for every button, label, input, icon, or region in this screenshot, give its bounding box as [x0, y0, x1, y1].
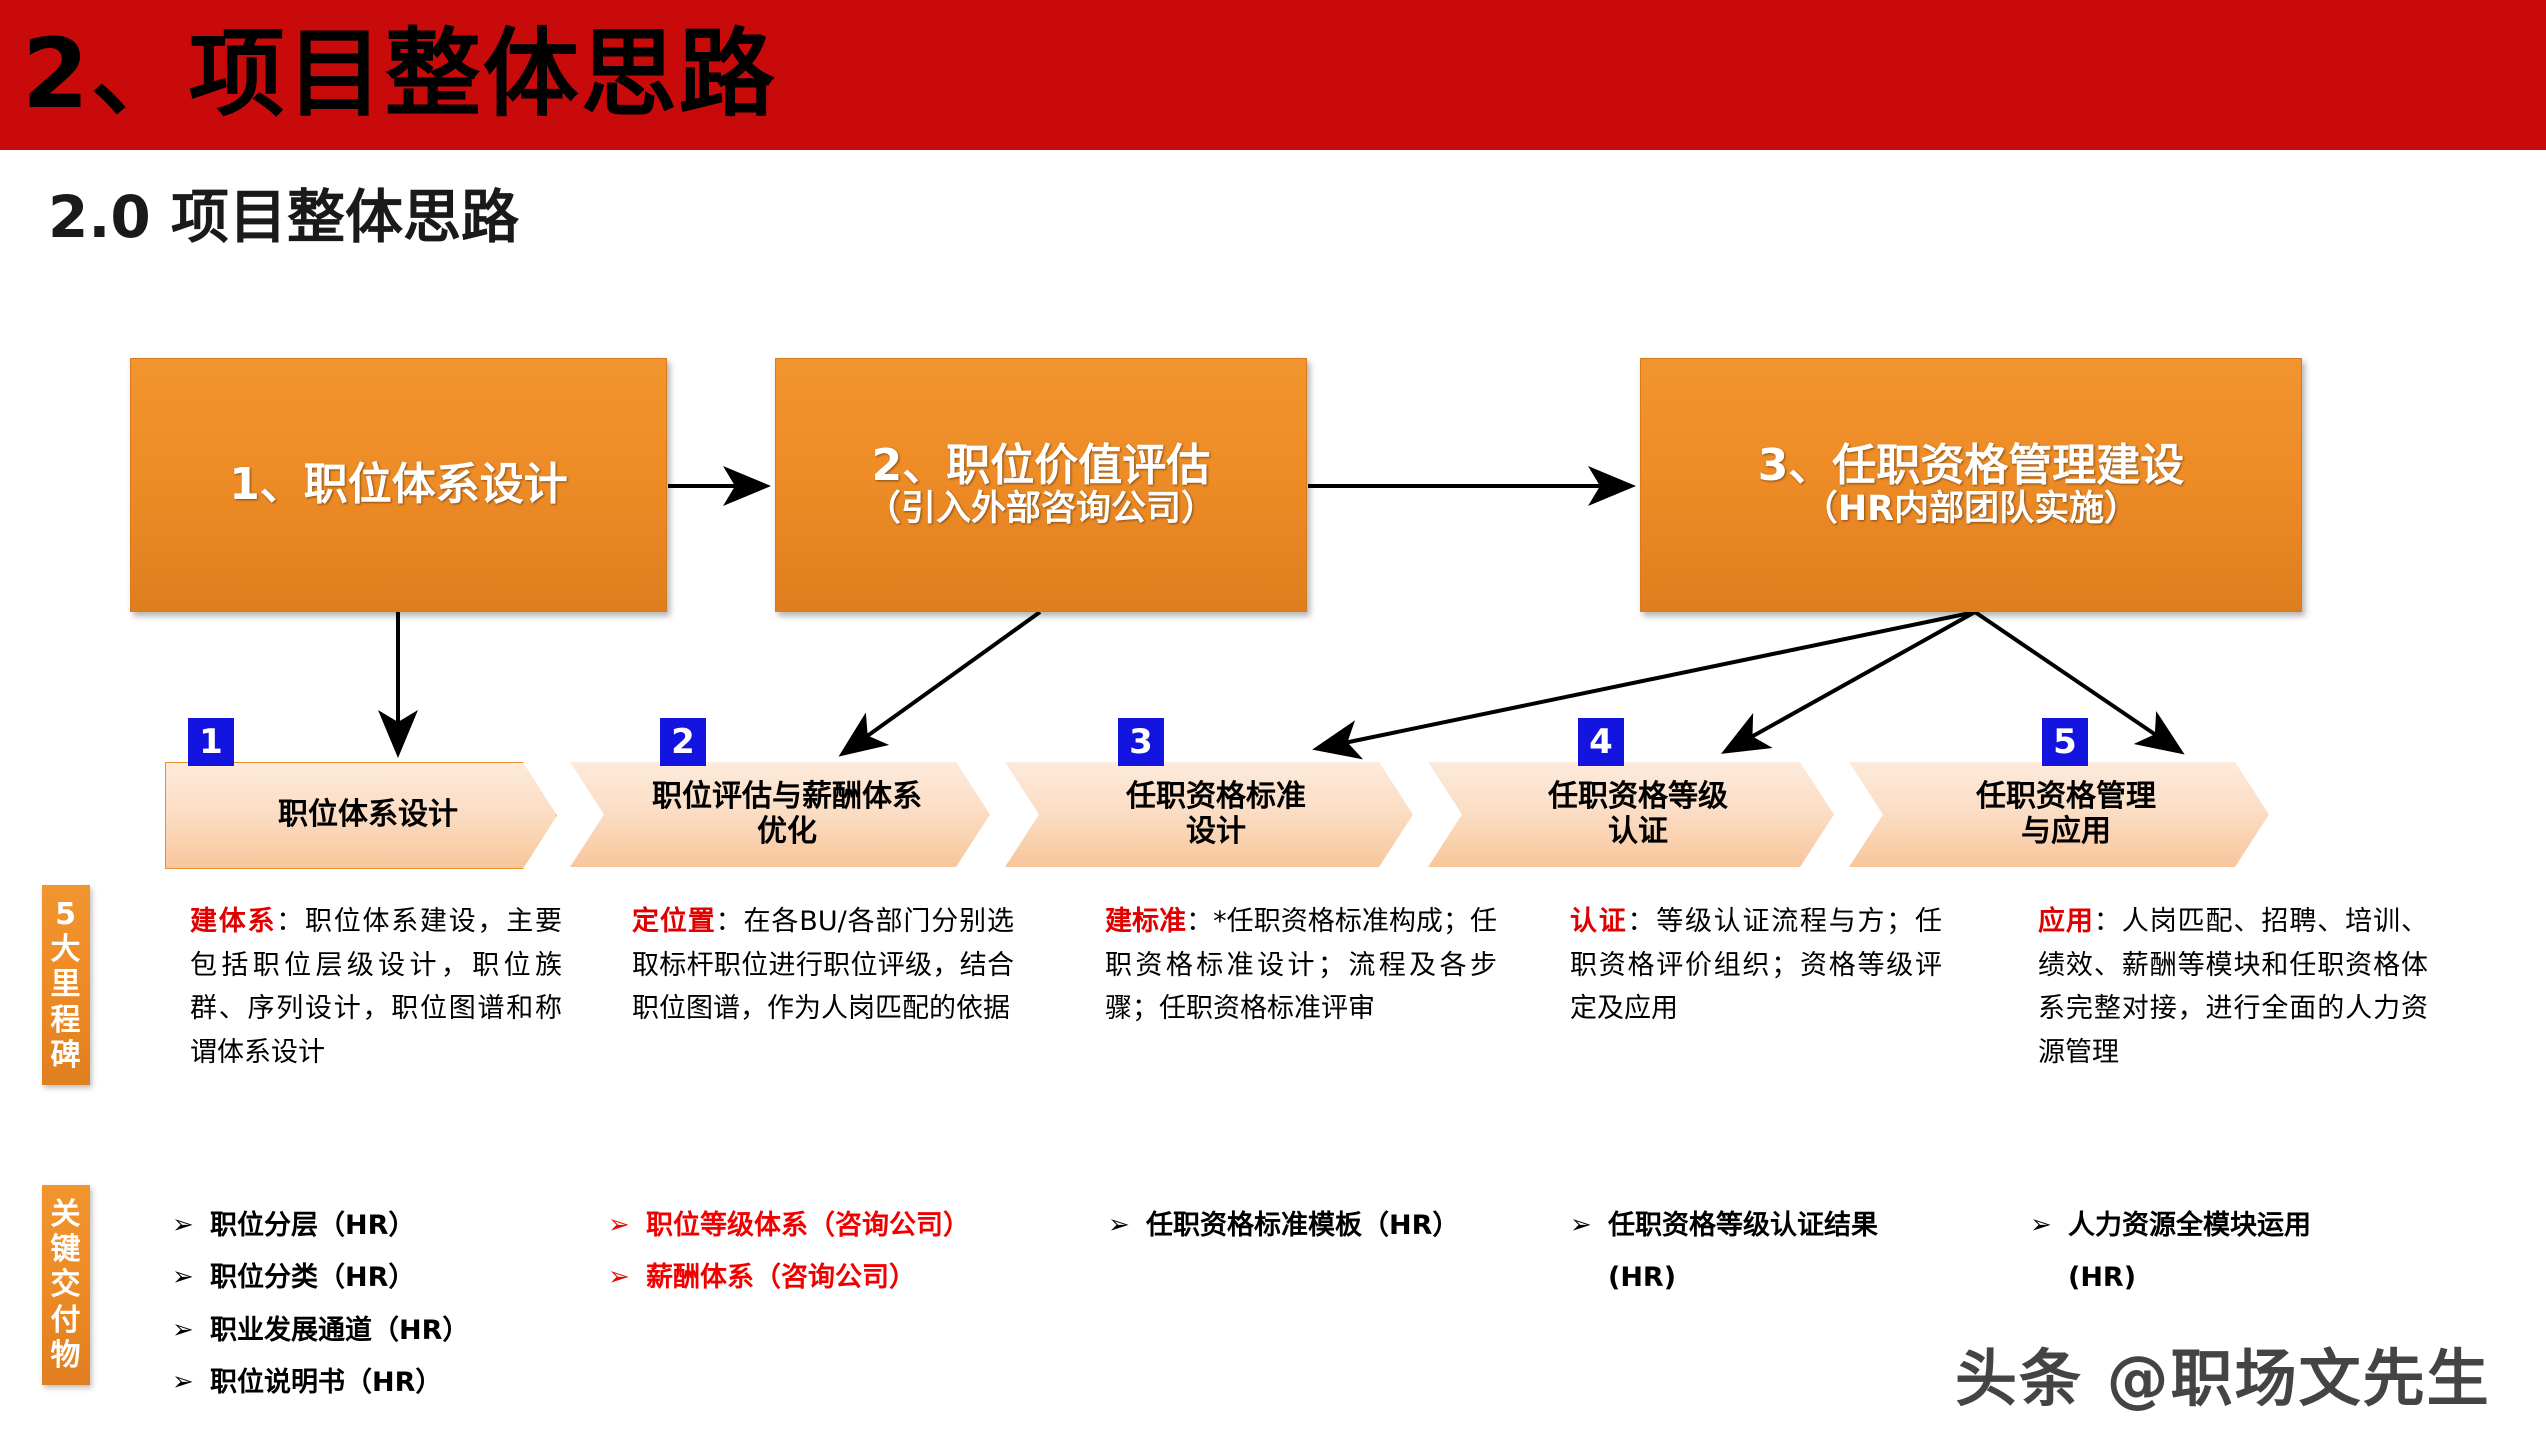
- bullet-arrow-icon: ➢: [172, 1208, 210, 1243]
- description-4: 认证：等级认证流程与方；任职资格评价组织；资格等级评定及应用: [1570, 900, 1942, 1031]
- milestone-chevron-5-label: 任职资格管理与应用: [1936, 780, 2182, 848]
- list-item-label: 职位分层（HR）: [210, 1208, 572, 1244]
- list-item: ➢薪酬体系（咨询公司）: [608, 1260, 1038, 1296]
- bullet-arrow-icon: ➢: [172, 1365, 210, 1400]
- description-5: 应用：人岗匹配、招聘、培训、绩效、薪酬等模块和任职资格体系完整对接，进行全面的人…: [2038, 900, 2428, 1075]
- list-item: ➢职位说明书（HR）: [172, 1365, 572, 1401]
- milestone-chevron-1[interactable]: 职位体系设计: [165, 762, 557, 869]
- list-item-label: 薪酬体系（咨询公司）: [646, 1260, 1038, 1296]
- list-item-label: 人力资源全模块运用: [2068, 1208, 2430, 1244]
- bullet-arrow-icon: ➢: [1570, 1208, 1608, 1243]
- milestone-chevron-1-label: 职位体系设计: [238, 798, 484, 832]
- milestone-chevron-4[interactable]: 任职资格等级认证: [1428, 762, 1834, 867]
- side-label-deliverables: 关键交付物: [42, 1185, 90, 1385]
- phase-box-2[interactable]: 2、职位价值评估 （引入外部咨询公司）: [775, 358, 1307, 612]
- milestone-chevron-3-label: 任职资格标准设计: [1086, 780, 1332, 848]
- phase-box-3-line2: （HR内部团队实施）: [1758, 490, 2185, 529]
- description-keyword: 建标准: [1105, 906, 1186, 937]
- deliverables-list-4: ➢任职资格等级认证结果(HR): [1570, 1208, 1970, 1313]
- description-keyword: 建体系: [190, 906, 276, 937]
- milestone-chevron-2[interactable]: 职位评估与薪酬体系优化: [570, 762, 990, 867]
- milestone-chevron-3[interactable]: 任职资格标准设计: [1005, 762, 1413, 867]
- list-item-label: 职位等级体系（咨询公司）: [646, 1208, 1038, 1244]
- description-body: ：人岗匹配、招聘、培训、绩效、薪酬等模块和任职资格体系完整对接，进行全面的人力资…: [2038, 906, 2428, 1068]
- list-item: (HR): [2030, 1260, 2430, 1296]
- list-item: ➢任职资格标准模板（HR）: [1108, 1208, 1528, 1244]
- list-item-label: (HR): [2068, 1260, 2430, 1296]
- description-keyword: 认证: [1570, 906, 1628, 937]
- phase-box-1[interactable]: 1、职位体系设计: [130, 358, 667, 612]
- list-item: ➢任职资格等级认证结果: [1570, 1208, 1970, 1244]
- milestone-badge-3: 3: [1118, 718, 1164, 766]
- phase-box-2-line1: 2、职位价值评估: [866, 441, 1216, 490]
- side-label-milestones: 5大里程碑: [42, 885, 90, 1085]
- bullet-arrow-icon: ➢: [172, 1260, 210, 1295]
- description-keyword: 定位置: [632, 906, 716, 937]
- description-3: 建标准：*任职资格标准构成；任职资格标准设计；流程及各步骤；任职资格标准评审: [1105, 900, 1497, 1031]
- bullet-arrow-icon: ➢: [608, 1208, 646, 1243]
- description-2: 定位置：在各BU/各部门分别选取标杆职位进行职位评级，结合职位图谱，作为人岗匹配…: [632, 900, 1014, 1031]
- list-item: ➢人力资源全模块运用: [2030, 1208, 2430, 1244]
- list-item-label: (HR): [1608, 1260, 1970, 1296]
- watermark: 头条 @职场文先生: [1955, 1328, 2491, 1418]
- list-item: ➢职位等级体系（咨询公司）: [608, 1208, 1038, 1244]
- bullet-arrow-icon: ➢: [172, 1313, 210, 1348]
- slide-root: 2、项目整体思路 2.0 项目整体思路 1、职位体系设计 2、职位价值评估: [0, 0, 2546, 1440]
- deliverables-list-2: ➢职位等级体系（咨询公司）➢薪酬体系（咨询公司）: [608, 1208, 1038, 1313]
- deliverables-list-3: ➢任职资格标准模板（HR）: [1108, 1208, 1528, 1260]
- bullet-arrow-icon: ➢: [608, 1260, 646, 1295]
- deliverables-list-1: ➢职位分层（HR）➢职位分类（HR）➢职业发展通道（HR）➢职位说明书（HR）: [172, 1208, 572, 1418]
- description-keyword: 应用: [2038, 906, 2094, 937]
- list-item-label: 职业发展通道（HR）: [210, 1313, 572, 1349]
- phase-box-2-line2: （引入外部咨询公司）: [866, 490, 1216, 529]
- milestone-badge-2: 2: [660, 718, 706, 766]
- description-1: 建体系：职位体系建设，主要包括职位层级设计，职位族群、序列设计，职位图谱和称谓体…: [190, 900, 562, 1075]
- list-item-label: 职位分类（HR）: [210, 1260, 572, 1296]
- list-item: ➢职位分类（HR）: [172, 1260, 572, 1296]
- phase-box-3-line1: 3、任职资格管理建设: [1758, 441, 2185, 490]
- bullet-arrow-icon: ➢: [2030, 1208, 2068, 1243]
- section-subtitle: 2.0 项目整体思路: [48, 170, 519, 254]
- milestone-badge-4: 4: [1578, 718, 1624, 766]
- bullet-arrow-icon: ➢: [1108, 1208, 1146, 1243]
- list-item-label: 职位说明书（HR）: [210, 1365, 572, 1401]
- milestone-badge-5: 5: [2042, 718, 2088, 766]
- deliverables-list-5: ➢人力资源全模块运用(HR): [2030, 1208, 2430, 1313]
- phase-box-3[interactable]: 3、任职资格管理建设 （HR内部团队实施）: [1640, 358, 2302, 612]
- milestone-badge-1: 1: [188, 718, 234, 766]
- milestone-chevron-4-label: 任职资格等级认证: [1508, 780, 1754, 848]
- list-item-label: 任职资格标准模板（HR）: [1146, 1208, 1528, 1244]
- list-item-label: 任职资格等级认证结果: [1608, 1208, 1970, 1244]
- phase-box-1-line1: 1、职位体系设计: [229, 460, 568, 509]
- page-title: 2、项目整体思路: [22, 14, 777, 134]
- list-item: ➢职业发展通道（HR）: [172, 1313, 572, 1349]
- list-item: ➢职位分层（HR）: [172, 1208, 572, 1244]
- milestone-chevron-2-label: 职位评估与薪酬体系优化: [612, 780, 948, 848]
- milestone-chevron-5[interactable]: 任职资格管理与应用: [1849, 762, 2269, 867]
- list-item: (HR): [1570, 1260, 1970, 1296]
